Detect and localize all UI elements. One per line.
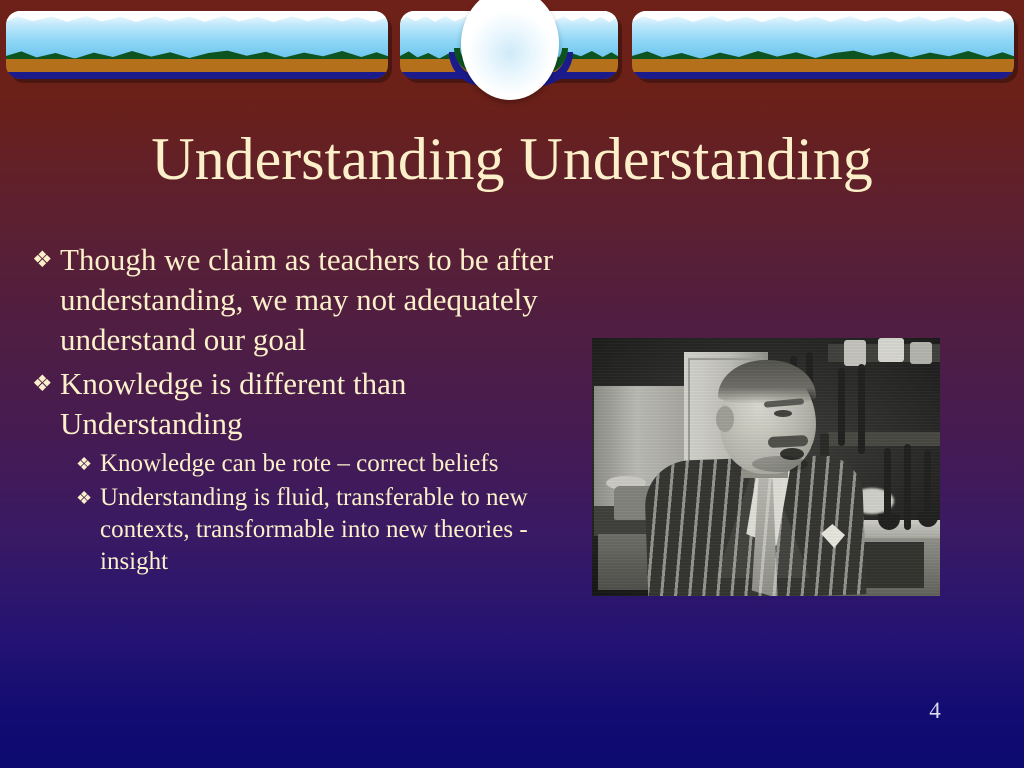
photo-bg-hanging-utensil [858, 364, 865, 454]
slide-title: Understanding Understanding [0, 126, 1024, 192]
bullet-item-2: ❖ Knowledge is different than Understand… [24, 364, 584, 444]
diamond-bullet-icon: ❖ [70, 448, 100, 480]
photo-bg-hanging-utensil [838, 368, 845, 446]
header-banner-graphic [0, 0, 1024, 100]
sub-bullet-item-2: ❖ Understanding is fluid, transferable t… [70, 482, 570, 578]
photo-bg-jar [844, 340, 866, 366]
bullet-item-2-text: Knowledge is different than Understandin… [60, 364, 584, 444]
slide-photo [592, 338, 940, 596]
banner-panel-left [6, 11, 388, 79]
panel-ground [6, 59, 388, 73]
photo-subject-eye [774, 410, 792, 417]
sub-bullet-item-2-text: Understanding is fluid, transferable to … [100, 482, 570, 578]
sub-bullet-item-1-text: Knowledge can be rote – correct beliefs [100, 448, 570, 480]
sub-bullet-item-1: ❖ Knowledge can be rote – correct belief… [70, 448, 570, 480]
slide-number: 4 [915, 698, 955, 724]
panel-water [632, 72, 1014, 79]
photo-subject-chin-shadow [752, 456, 808, 472]
slide-body: ❖ Though we claim as teachers to be afte… [24, 240, 584, 580]
diamond-bullet-icon: ❖ [70, 482, 100, 514]
bullet-item-1: ❖ Though we claim as teachers to be afte… [24, 240, 584, 360]
photo-image [592, 338, 940, 596]
photo-bg-hanging-utensil [884, 448, 891, 522]
photo-bg-hanging-utensil [904, 444, 911, 530]
presentation-slide: Understanding Understanding ❖ Though we … [0, 0, 1024, 768]
panel-ground [632, 59, 1014, 73]
photo-subject-ear [716, 406, 734, 432]
panel-water [6, 72, 388, 79]
photo-subject-moustache [768, 435, 809, 448]
photo-bg-hanging-utensil [924, 450, 931, 520]
diamond-bullet-icon: ❖ [24, 364, 60, 404]
banner-panel-right [632, 11, 1014, 79]
photo-bg-jar [878, 338, 904, 362]
diamond-bullet-icon: ❖ [24, 240, 60, 280]
photo-bg-jar [910, 342, 932, 364]
bullet-item-1-text: Though we claim as teachers to be after … [60, 240, 584, 360]
